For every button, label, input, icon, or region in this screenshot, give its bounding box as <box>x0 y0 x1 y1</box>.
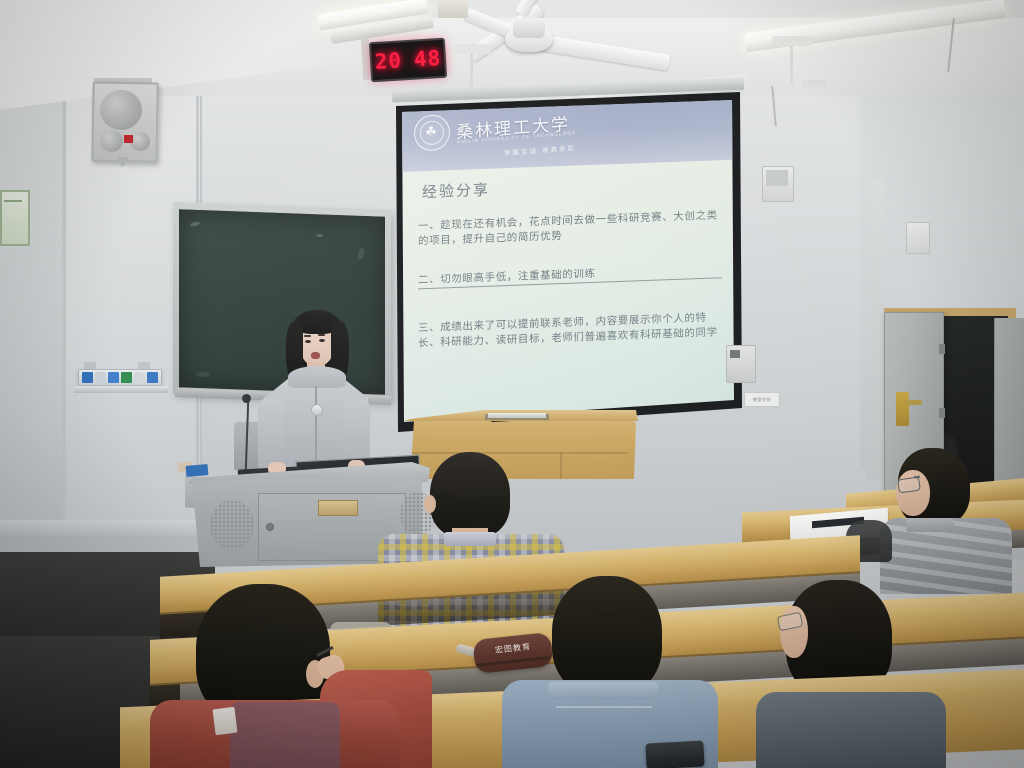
lectern-keyhole-icon[interactable] <box>266 523 274 531</box>
presenter-hood <box>288 366 346 388</box>
wall-control-screen <box>730 350 740 358</box>
chalkboard <box>179 209 385 395</box>
lectern-speaker-grille <box>210 500 254 550</box>
student-striped-polo-collar <box>906 518 954 532</box>
light-ceiling-mount <box>772 36 812 46</box>
lecture-hall-photo: 20 48 ☘ 桑林理工大学 <box>0 0 1024 768</box>
presenter-mouth <box>311 352 320 359</box>
university-motto: 学案至诚 崇真务实 <box>504 142 576 157</box>
switch-panel-shelf <box>74 386 168 393</box>
clock-minutes: 48 <box>413 46 442 72</box>
podium-seam <box>560 452 562 479</box>
light-switch-panel[interactable] <box>78 369 162 386</box>
lectern-label-plate <box>318 500 358 516</box>
door-handle[interactable] <box>905 400 922 405</box>
light-switch[interactable] <box>134 372 145 383</box>
lectern-item-blue <box>186 464 209 477</box>
chalk-mark <box>196 372 210 377</box>
light-switch[interactable] <box>108 372 119 383</box>
light-switch[interactable] <box>147 372 158 383</box>
slide-bullet-1: 一、趁现在还有机会，花点时间去做一些科研竞赛、大创之类的项目，提升自己的简历优势 <box>418 208 722 249</box>
slide-bullet-3: 三、成绩出来了可以提前联系老师，内容要展示你个人的特长、科研能力、读研目标，老师… <box>418 310 722 351</box>
ceiling-fan-motor <box>513 18 545 38</box>
microphone <box>242 394 251 403</box>
projector-screen: ☘ 桑林理工大学 GUILIN UNIVERSITY OF TECHNOLOGY… <box>400 100 734 422</box>
light-switch[interactable] <box>121 372 132 383</box>
clock-hours: 20 <box>374 48 403 74</box>
chalk-mark <box>316 234 323 237</box>
light-switch[interactable] <box>95 372 106 383</box>
speaker-driver-icon <box>100 130 123 152</box>
wall-sign: 教室守则 <box>744 392 780 407</box>
university-seal-glyph-icon: ☘ <box>423 123 440 140</box>
smartphone[interactable] <box>645 741 704 768</box>
student-red-jacket-collar <box>212 707 237 735</box>
student-red-jacket-inner <box>230 702 340 768</box>
door-hinge <box>939 408 945 418</box>
door-hinge <box>939 344 945 354</box>
student-denim-shirt-seam <box>556 706 652 708</box>
presenter-eyebrow <box>318 334 325 336</box>
slide-body: 经验分享 一、趁现在还有机会，花点时间去做一些科研竞赛、大创之类的项目，提升自己… <box>400 152 734 422</box>
podium-seam <box>412 452 628 454</box>
light-ceiling-mount <box>455 44 491 54</box>
ceiling-junction-box <box>438 0 468 18</box>
wall-mounted-box <box>906 222 930 254</box>
led-wall-clock: 20 48 <box>369 38 447 83</box>
student-denim-shirt-head <box>552 576 662 696</box>
light-ceiling-mount <box>802 80 826 87</box>
presenter-hoodie-zipper <box>315 386 317 472</box>
right-wall-pillar <box>866 180 884 480</box>
student-plaid-shirt-collar <box>444 532 496 546</box>
student-plaid-shirt-ear <box>424 495 436 513</box>
presenter-pendant <box>311 404 323 416</box>
slide-title: 经验分享 <box>422 179 490 202</box>
speaker-badge <box>124 135 133 143</box>
presenter-eye <box>305 340 311 343</box>
wall-notice-board <box>0 190 30 246</box>
notice-line <box>4 200 22 202</box>
speaker-driver-icon <box>130 132 150 151</box>
light-hanger-rod <box>790 44 793 84</box>
door-lock-icon[interactable] <box>896 392 909 426</box>
student-denim-shirt-collar <box>548 682 658 700</box>
podium-plate <box>488 413 546 418</box>
wall-box-grille <box>766 170 788 186</box>
slide-bullet-2: 二、切勿眼高手低，注重基础的训练 <box>418 262 722 289</box>
speaker-driver-icon <box>100 90 142 130</box>
student-plaid-shirt-head <box>430 452 510 538</box>
student-gray-shirt-body <box>756 692 946 768</box>
presenter-eye <box>319 339 325 342</box>
presenter-eyebrow <box>304 335 311 337</box>
light-switch[interactable] <box>82 372 93 383</box>
